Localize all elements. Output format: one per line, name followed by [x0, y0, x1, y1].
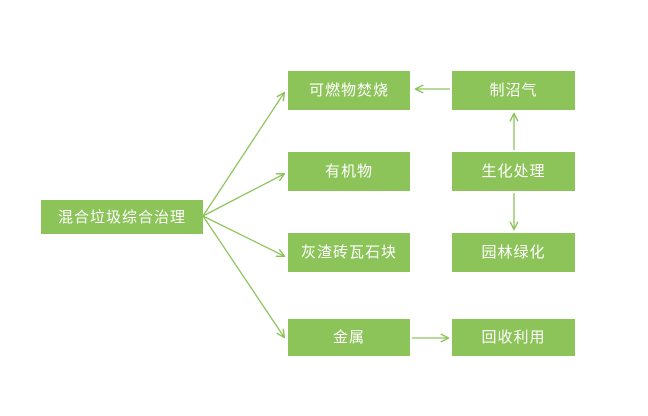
node-landscaping[interactable]: 园林绿化	[452, 233, 575, 272]
node-metal[interactable]: 金属	[288, 319, 410, 356]
edge-root-to-metal	[203, 216, 284, 337]
node-label: 有机物	[325, 164, 373, 179]
node-biochemical-treatment[interactable]: 生化处理	[452, 152, 575, 191]
node-label: 金属	[333, 330, 365, 345]
node-label: 可燃物焚烧	[309, 83, 389, 98]
edge-root-to-combustibles	[203, 93, 284, 216]
edge-root-to-organics	[203, 174, 284, 216]
node-label: 回收利用	[481, 330, 545, 345]
node-label: 制沼气	[489, 83, 537, 98]
node-organic-matter[interactable]: 有机物	[288, 152, 410, 191]
node-recycling-reuse[interactable]: 回收利用	[452, 319, 575, 356]
node-label: 灰渣砖瓦石块	[301, 245, 397, 260]
node-mixed-waste-treatment[interactable]: 混合垃圾综合治理	[41, 200, 203, 234]
node-label: 生化处理	[481, 164, 545, 179]
node-combustible-incineration[interactable]: 可燃物焚烧	[288, 71, 410, 110]
node-label: 园林绿化	[481, 245, 545, 260]
node-ash-brick-tile-stone[interactable]: 灰渣砖瓦石块	[288, 233, 410, 272]
diagram-canvas: 混合垃圾综合治理 可燃物焚烧 有机物 灰渣砖瓦石块 金属 制沼气 生化处理 园林…	[0, 0, 648, 416]
node-label: 混合垃圾综合治理	[58, 210, 186, 225]
edge-root-to-ash-bricks	[203, 216, 284, 256]
node-biogas-production[interactable]: 制沼气	[452, 71, 575, 110]
